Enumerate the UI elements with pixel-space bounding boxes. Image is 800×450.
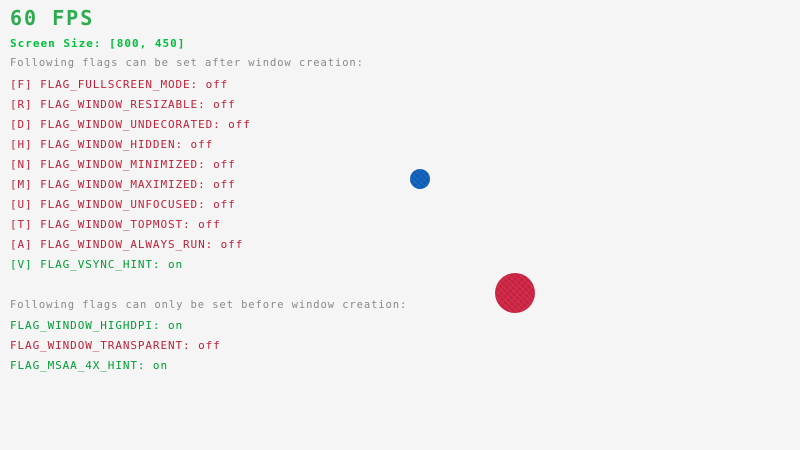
red-ball-shape xyxy=(495,273,535,313)
flag-name: FLAG_VSYNC_HINT: xyxy=(40,258,160,271)
flag-name: FLAG_WINDOW_HIGHDPI: xyxy=(10,319,160,332)
flag-shortcut-key: [U] xyxy=(10,198,40,211)
flag-name: FLAG_WINDOW_UNDECORATED: xyxy=(40,118,221,131)
flag-name: FLAG_WINDOW_HIDDEN: xyxy=(40,138,183,151)
flag-row[interactable]: FLAG_WINDOW_HIGHDPI: on xyxy=(10,320,183,331)
flag-row[interactable]: [N] FLAG_WINDOW_MINIMIZED: off xyxy=(10,159,236,170)
fps-counter: 60 FPS xyxy=(10,8,94,28)
flag-row[interactable]: [D] FLAG_WINDOW_UNDECORATED: off xyxy=(10,119,251,130)
flag-row[interactable]: [H] FLAG_WINDOW_HIDDEN: off xyxy=(10,139,213,150)
flag-state-value: on xyxy=(160,258,183,271)
flag-name: FLAG_WINDOW_UNFOCUSED: xyxy=(40,198,206,211)
flag-row[interactable]: FLAG_WINDOW_TRANSPARENT: off xyxy=(10,340,221,351)
flag-shortcut-key: [H] xyxy=(10,138,40,151)
flag-shortcut-key: [R] xyxy=(10,98,40,111)
flag-state-value: off xyxy=(206,178,236,191)
flag-state-value: off xyxy=(221,118,251,131)
flag-shortcut-key: [N] xyxy=(10,158,40,171)
flag-state-value: off xyxy=(198,78,228,91)
flag-name: FLAG_WINDOW_MAXIMIZED: xyxy=(40,178,206,191)
flag-name: FLAG_FULLSCREEN_MODE: xyxy=(40,78,198,91)
flag-name: FLAG_WINDOW_TOPMOST: xyxy=(40,218,190,231)
flag-name: FLAG_WINDOW_ALWAYS_RUN: xyxy=(40,238,213,251)
flag-state-value: off xyxy=(206,98,236,111)
flag-state-value: off xyxy=(206,198,236,211)
flag-row[interactable]: [R] FLAG_WINDOW_RESIZABLE: off xyxy=(10,99,236,110)
flag-row[interactable]: [F] FLAG_FULLSCREEN_MODE: off xyxy=(10,79,228,90)
flag-row[interactable]: FLAG_MSAA_4X_HINT: on xyxy=(10,360,168,371)
flag-row[interactable]: [A] FLAG_WINDOW_ALWAYS_RUN: off xyxy=(10,239,243,250)
flag-shortcut-key: [A] xyxy=(10,238,40,251)
flag-state-value: off xyxy=(191,218,221,231)
flag-row[interactable]: [T] FLAG_WINDOW_TOPMOST: off xyxy=(10,219,221,230)
flag-row[interactable]: [M] FLAG_WINDOW_MAXIMIZED: off xyxy=(10,179,236,190)
creation-flags-heading: Following flags can only be set before w… xyxy=(10,300,407,311)
flag-name: FLAG_WINDOW_MINIMIZED: xyxy=(40,158,206,171)
flag-row[interactable]: [V] FLAG_VSYNC_HINT: on xyxy=(10,259,183,270)
raylib-window: 60 FPS Screen Size: [800, 450] Following… xyxy=(0,0,800,450)
flag-shortcut-key: [M] xyxy=(10,178,40,191)
flag-state-value: on xyxy=(160,319,183,332)
flag-name: FLAG_WINDOW_TRANSPARENT: xyxy=(10,339,191,352)
flag-row[interactable]: [U] FLAG_WINDOW_UNFOCUSED: off xyxy=(10,199,236,210)
screen-size-readout: Screen Size: [800, 450] xyxy=(10,38,185,49)
flag-state-value: off xyxy=(191,339,221,352)
flag-shortcut-key: [V] xyxy=(10,258,40,271)
blue-ball-shape xyxy=(410,169,430,189)
flag-shortcut-key: [F] xyxy=(10,78,40,91)
flag-state-value: off xyxy=(183,138,213,151)
flag-state-value: on xyxy=(145,359,168,372)
flag-name: FLAG_WINDOW_RESIZABLE: xyxy=(40,98,206,111)
flag-state-value: off xyxy=(213,238,243,251)
runtime-flags-heading: Following flags can be set after window … xyxy=(10,58,364,69)
flag-name: FLAG_MSAA_4X_HINT: xyxy=(10,359,145,372)
flag-shortcut-key: [D] xyxy=(10,118,40,131)
flag-shortcut-key: [T] xyxy=(10,218,40,231)
flag-state-value: off xyxy=(206,158,236,171)
